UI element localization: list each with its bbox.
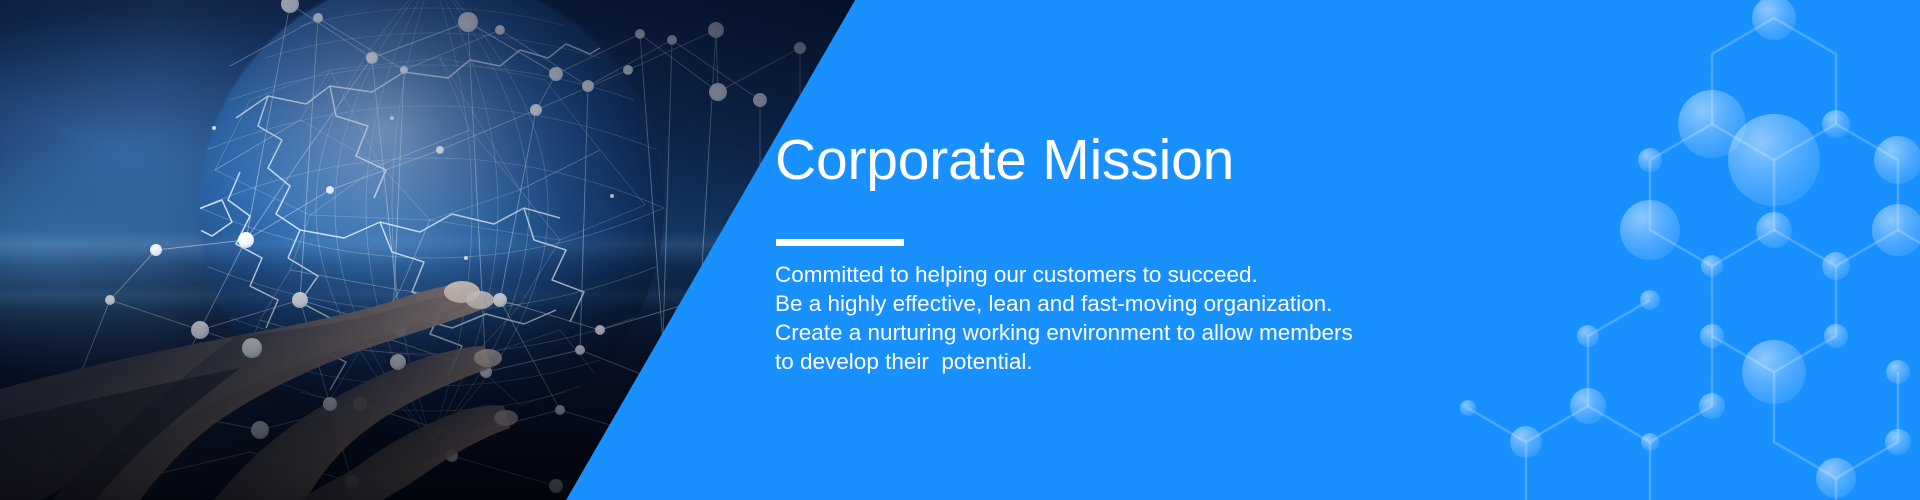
photo-bottom-shading <box>0 0 880 500</box>
mission-line: Be a highly effective, lean and fast-mov… <box>775 289 1395 318</box>
mission-line: to develop their potential. <box>775 347 1395 376</box>
mission-statement: Committed to helping our customers to su… <box>775 260 1395 376</box>
title-divider <box>776 239 904 246</box>
mission-line: Committed to helping our customers to su… <box>775 260 1395 289</box>
corporate-mission-banner: Corporate Mission Committed to helping o… <box>0 0 1920 500</box>
mission-content: Corporate Mission Committed to helping o… <box>775 0 1475 500</box>
mission-line: Create a nurturing working environment t… <box>775 318 1395 347</box>
globe-network-hand-photo <box>0 0 880 500</box>
page-title: Corporate Mission <box>775 132 1234 189</box>
